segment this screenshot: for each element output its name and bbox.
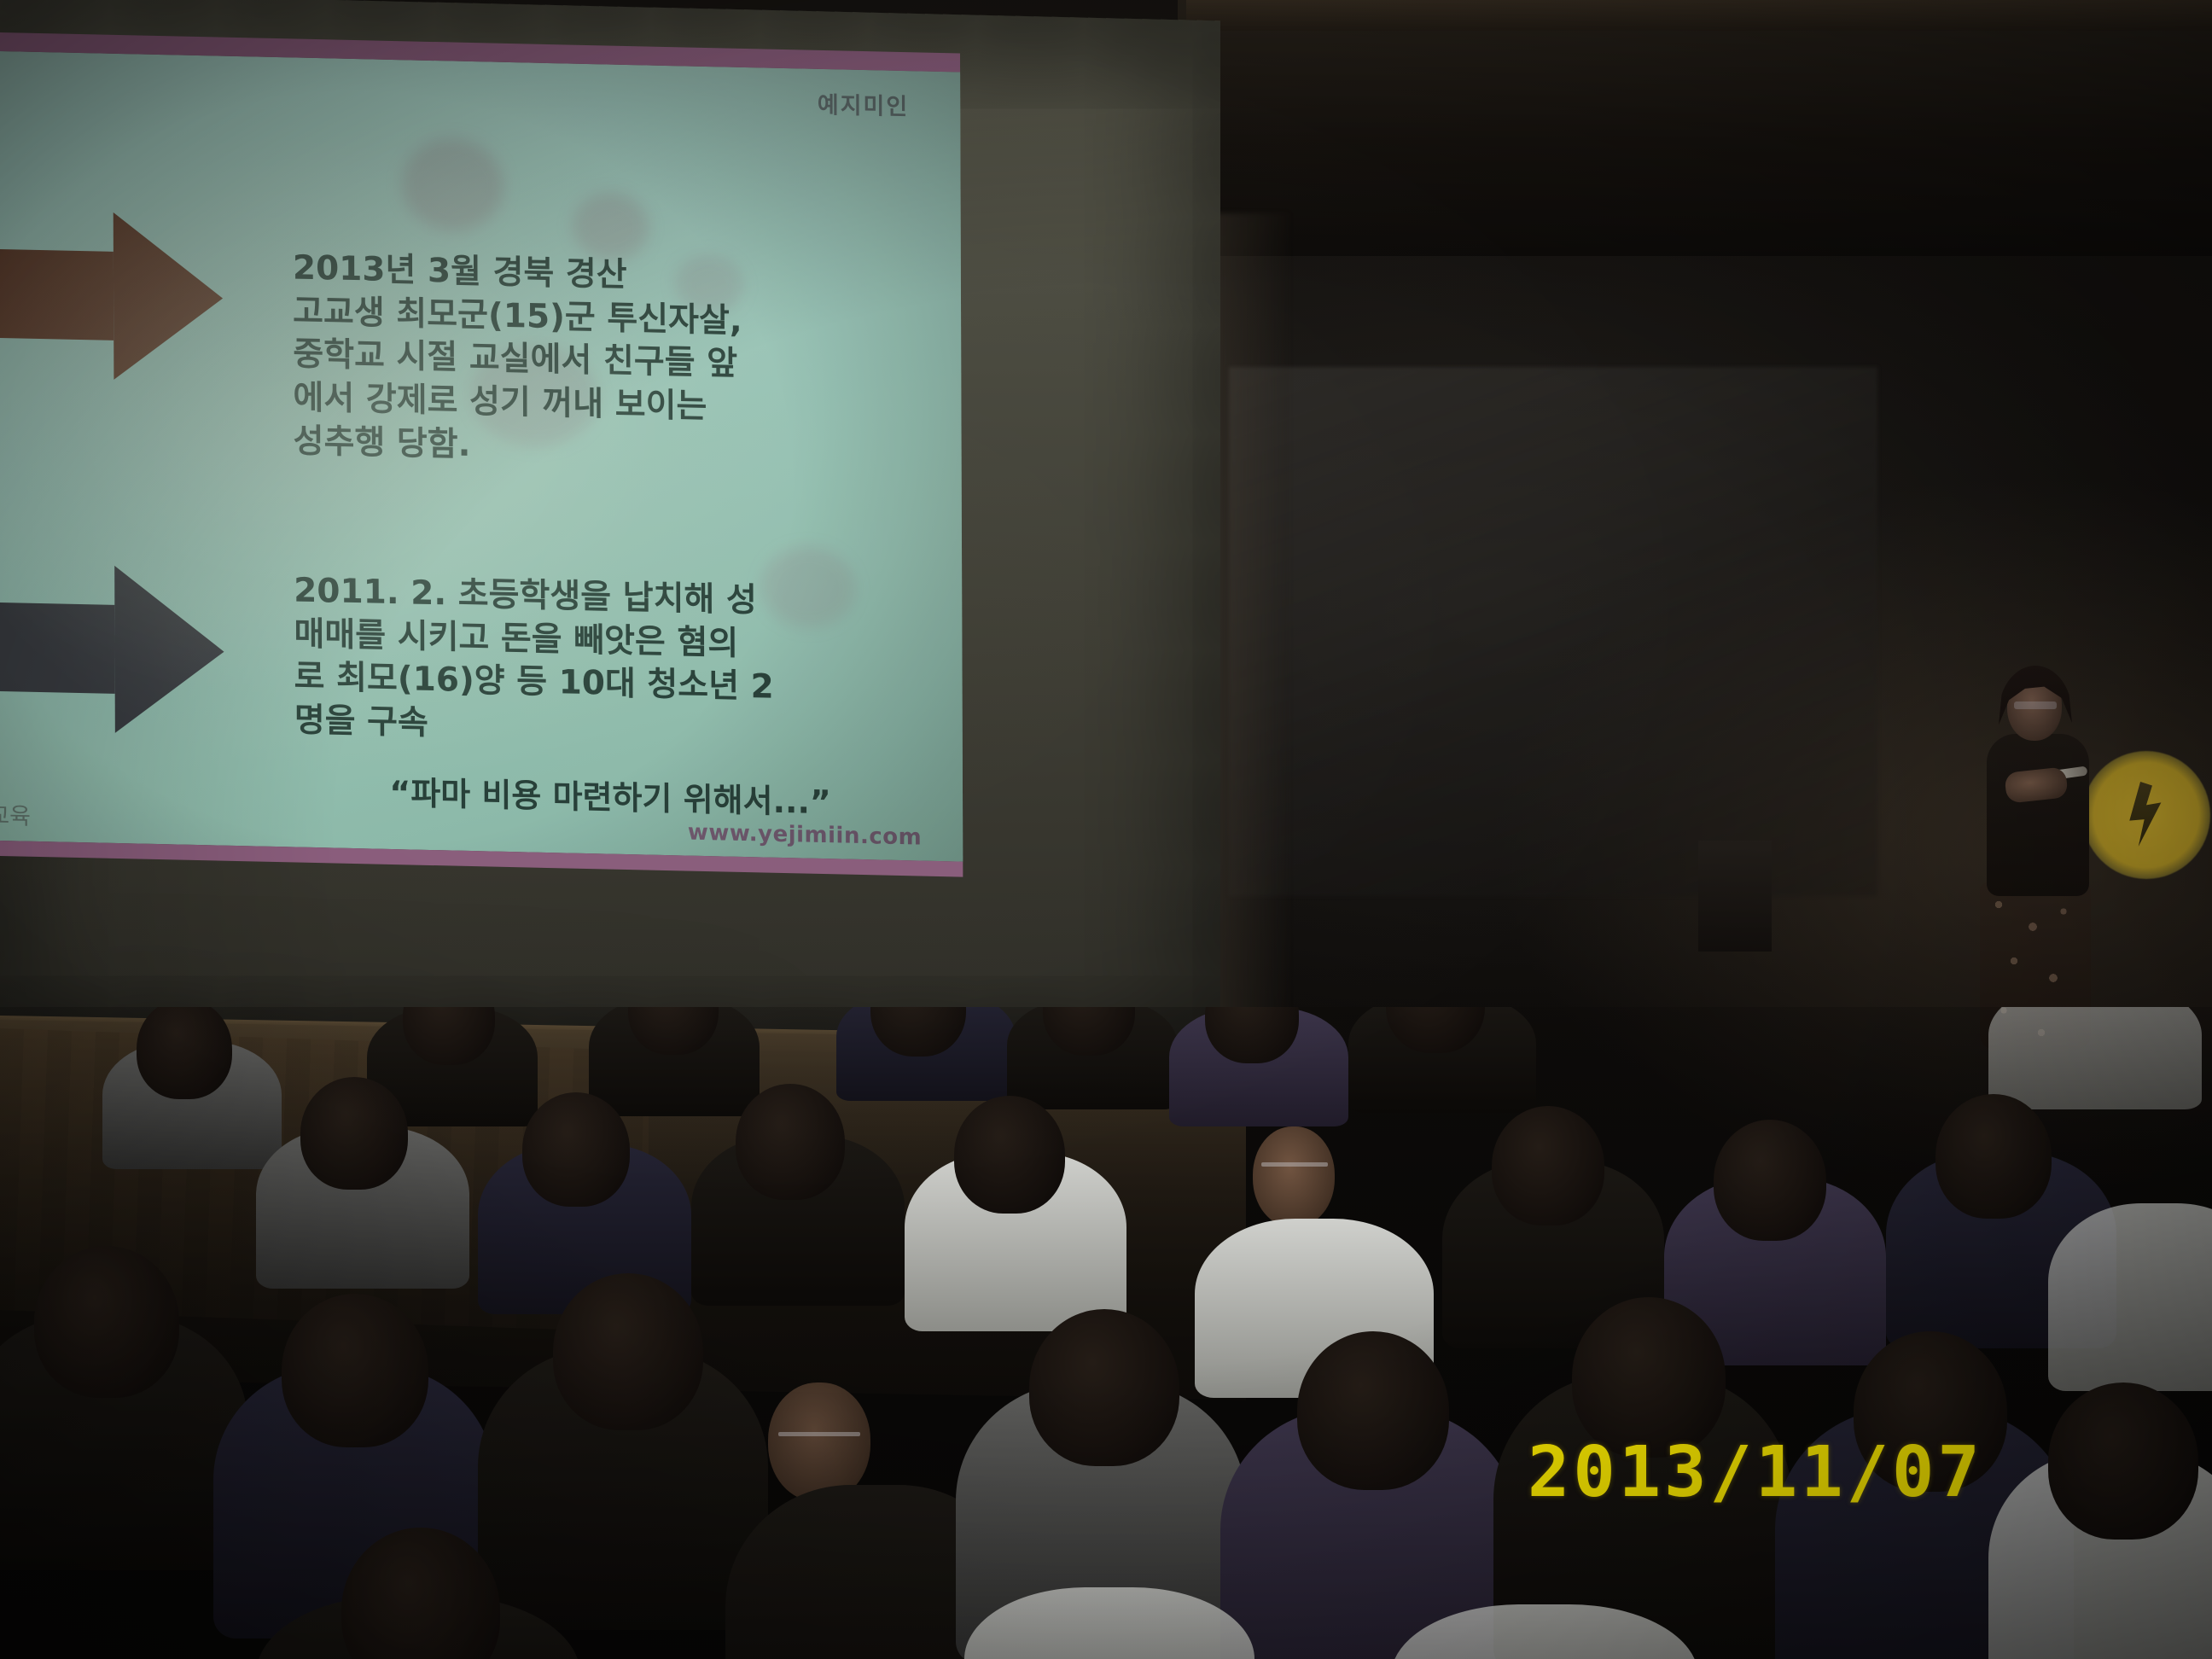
audience-member bbox=[1029, 1309, 1179, 1466]
audience-member bbox=[522, 1092, 630, 1207]
audience-member bbox=[1492, 1106, 1604, 1225]
arrow-head-icon bbox=[114, 566, 224, 736]
audience-member bbox=[34, 1246, 179, 1398]
slide-quote: “파마 비용 마련하기 위해서...” bbox=[311, 765, 909, 824]
audience-member bbox=[1935, 1094, 2052, 1219]
audience-member bbox=[2048, 1382, 2198, 1540]
audience-member bbox=[2048, 1203, 2212, 1391]
slide-website-url: www.yejimiin.com bbox=[688, 820, 922, 851]
glasses-icon bbox=[1261, 1162, 1328, 1167]
audience-member bbox=[137, 1007, 232, 1099]
photo-canvas: 예지미인 서 자살 고교생 지 벗겼다" 대 청소년, 등학생 납치 2013년… bbox=[0, 0, 2212, 1659]
slide-paragraph-2: 2011. 2. 초등학생을 납치해 성 매매를 시키고 돈을 빼앗은 혐의 로… bbox=[294, 569, 909, 755]
audience-member bbox=[1714, 1120, 1826, 1241]
audience-face bbox=[768, 1382, 870, 1502]
screen-stain bbox=[573, 192, 649, 262]
glasses-icon bbox=[778, 1432, 860, 1436]
arrow-head-icon bbox=[114, 212, 224, 382]
projected-slide: 예지미인 서 자살 고교생 지 벗겼다" 대 청소년, 등학생 납치 2013년… bbox=[0, 31, 963, 877]
rear-wall bbox=[1229, 367, 1877, 896]
camera-timestamp: 2013/11/07 bbox=[1528, 1432, 1983, 1513]
slide-paragraph-1: 2013년 3월 경북 경산 고교생 최모군(15)군 투신자살, 중학교 시절… bbox=[293, 247, 908, 476]
audience-member bbox=[1988, 1007, 2202, 1109]
ceiling-panel bbox=[1178, 0, 2212, 256]
ceiling-beam bbox=[1186, 0, 2212, 31]
arrow-shaft: 서 자살 고교생 지 벗겼다" bbox=[0, 245, 114, 341]
arrow-banner-2: 대 청소년, 등학생 납치 bbox=[0, 559, 224, 736]
arrow-shaft: 대 청소년, 등학생 납치 bbox=[0, 598, 115, 694]
arrow-banner-1: 서 자살 고교생 지 벗겼다" bbox=[0, 206, 223, 382]
audience-member bbox=[954, 1096, 1065, 1214]
audience-member bbox=[553, 1273, 703, 1430]
screen-stain bbox=[401, 137, 504, 233]
presenter bbox=[1971, 674, 2133, 1050]
glasses-icon bbox=[2014, 701, 2057, 709]
speaker-cabinet bbox=[1698, 841, 1772, 952]
slide-footnote: 미인 성교육 bbox=[0, 795, 31, 831]
audience-member bbox=[300, 1077, 408, 1190]
slide-body: 예지미인 서 자살 고교생 지 벗겼다" 대 청소년, 등학생 납치 2013년… bbox=[0, 31, 963, 877]
audience-member bbox=[282, 1294, 428, 1447]
yejimiin-logo: 예지미인 bbox=[818, 86, 910, 121]
presenter-torso bbox=[1987, 734, 2089, 896]
audience-member bbox=[1297, 1331, 1449, 1490]
audience bbox=[0, 1007, 2212, 1659]
audience-face bbox=[1253, 1126, 1335, 1227]
audience-member bbox=[736, 1084, 845, 1200]
